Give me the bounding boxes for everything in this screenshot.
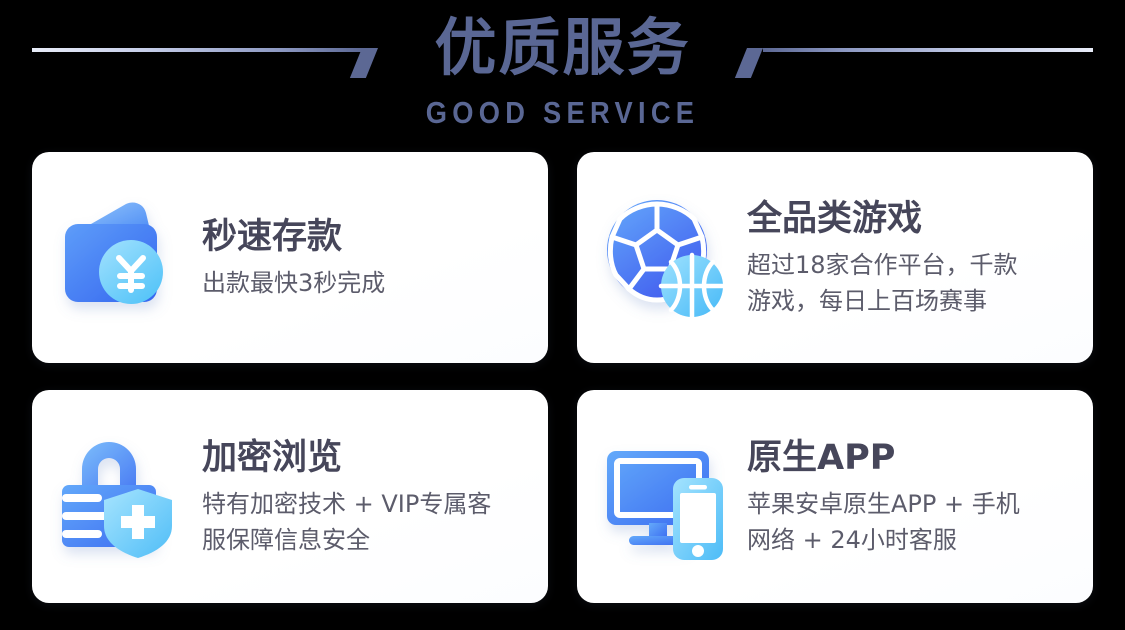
wallet-yen-icon [54, 192, 186, 324]
card-title: 秒速存款 [202, 215, 530, 259]
page-subtitle: GOOD SERVICE [68, 94, 1058, 132]
card-text-block: 加密浏览 特有加密技术 + VIP专属客 服保障信息安全 [202, 436, 548, 558]
card-subtitle: 超过18家合作平台，千款 游戏，每日上百场赛事 [747, 247, 1075, 319]
card-icon-slot [32, 152, 202, 363]
card-title: 原生APP [747, 436, 1075, 480]
card-subtitle: 苹果安卓原生APP + 手机 网络 + 24小时客服 [747, 486, 1075, 558]
feature-card-native-app[interactable]: 原生APP 苹果安卓原生APP + 手机 网络 + 24小时客服 [577, 390, 1093, 603]
monitor-phone-icon [599, 431, 731, 563]
card-subtitle: 特有加密技术 + VIP专属客 服保障信息安全 [202, 486, 530, 558]
card-subtitle-line: 服保障信息安全 [202, 522, 530, 558]
feature-card-deposit[interactable]: 秒速存款 出款最快3秒完成 [32, 152, 548, 363]
card-subtitle-line: 网络 + 24小时客服 [747, 522, 1075, 558]
card-title: 加密浏览 [202, 436, 530, 480]
card-icon-slot [32, 390, 202, 603]
card-subtitle-line: 特有加密技术 + VIP专属客 [202, 486, 530, 522]
card-subtitle: 出款最快3秒完成 [202, 265, 530, 301]
card-text-block: 全品类游戏 超过18家合作平台，千款 游戏，每日上百场赛事 [747, 197, 1093, 319]
card-text-block: 秒速存款 出款最快3秒完成 [202, 215, 548, 301]
soccer-basketball-icon [599, 192, 731, 324]
feature-card-games[interactable]: 全品类游戏 超过18家合作平台，千款 游戏，每日上百场赛事 [577, 152, 1093, 363]
card-title: 全品类游戏 [747, 197, 1075, 241]
lock-shield-icon [54, 431, 186, 563]
page-title: 优质服务 [0, 6, 1125, 90]
page-header: 优质服务 GOOD SERVICE [0, 0, 1125, 148]
card-subtitle-line: 游戏，每日上百场赛事 [747, 283, 1075, 319]
card-subtitle-line: 苹果安卓原生APP + 手机 [747, 486, 1075, 522]
card-icon-slot [577, 390, 747, 603]
card-text-block: 原生APP 苹果安卓原生APP + 手机 网络 + 24小时客服 [747, 436, 1093, 558]
card-subtitle-line: 超过18家合作平台，千款 [747, 247, 1075, 283]
feature-card-grid: 秒速存款 出款最快3秒完成 [32, 152, 1093, 603]
card-icon-slot [577, 152, 747, 363]
card-subtitle-line: 出款最快3秒完成 [202, 265, 530, 301]
feature-card-encryption[interactable]: 加密浏览 特有加密技术 + VIP专属客 服保障信息安全 [32, 390, 548, 603]
